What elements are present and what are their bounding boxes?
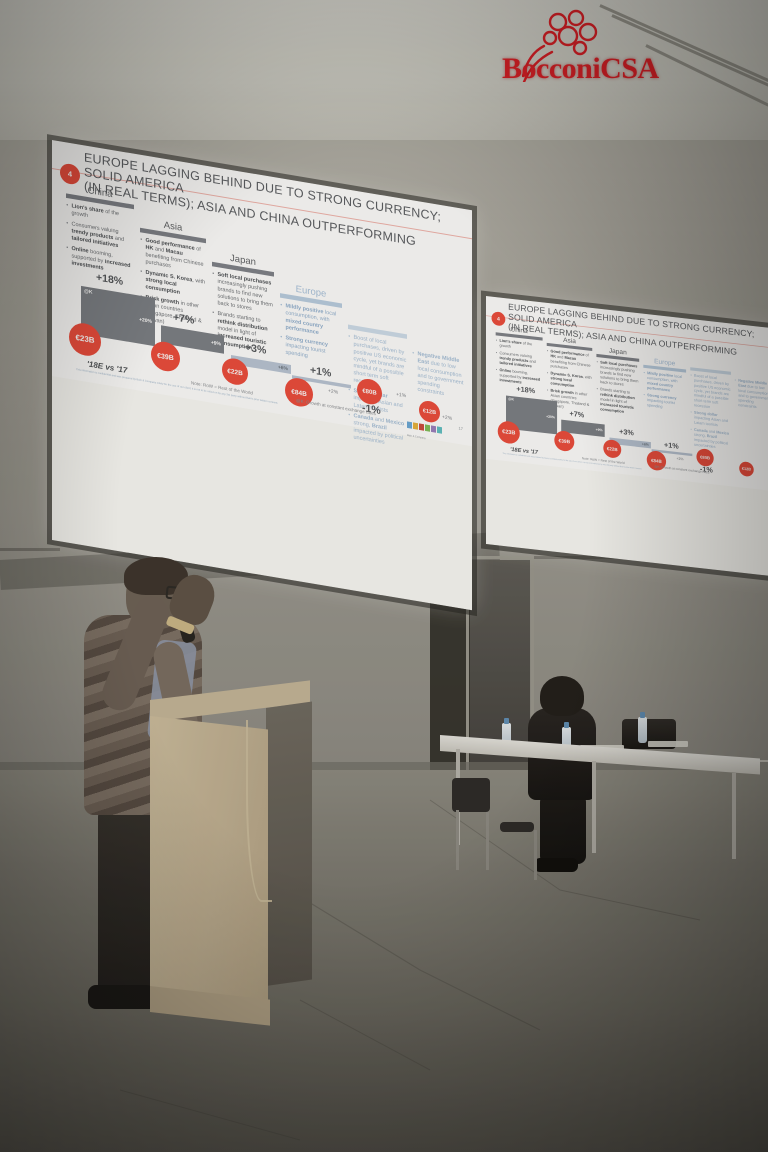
logo-square-1	[407, 421, 412, 428]
slide-content-secondary: 4 EUROPE LAGGING BEHIND DUE TO STRONG CU…	[486, 296, 768, 491]
logo-square-2	[413, 422, 418, 429]
bullet-item: Mildly positive local consumption, with …	[643, 370, 686, 395]
paper-sheet-3	[648, 741, 688, 747]
bullet-item: Good performance of HK and Macau benefit…	[547, 348, 593, 373]
bubble-row: €12B	[739, 461, 753, 477]
growth-label-asia: +7%	[173, 311, 194, 327]
growth-label-japan: +3%	[619, 428, 634, 438]
logo-square-3	[419, 423, 424, 430]
logo-square-6	[437, 426, 442, 433]
bullet-item: Negative Middle East due to low local co…	[734, 378, 768, 412]
constant-fx-japan: +6%	[278, 365, 288, 372]
column-china: China Lion's share of the growthConsumer…	[66, 181, 134, 280]
bullet-list-china: Lion's share of the growthConsumers valu…	[66, 201, 134, 277]
constant-fx-key: @K	[508, 397, 514, 401]
constant-fx-china: +20%	[546, 415, 555, 420]
column-row: Negative Middle East due to low local co…	[734, 378, 768, 414]
constant-fx-asia: +9%	[211, 340, 221, 347]
projection-screen-secondary: 4 EUROPE LAGGING BEHIND DUE TO STRONG CU…	[486, 296, 768, 577]
constant-fx-japan: +6%	[642, 442, 649, 447]
bullet-item: Brands starting to rethink distribution …	[596, 387, 639, 416]
bullet-item: Strong currency impacting tourist spendi…	[643, 392, 686, 412]
growth-label-europe: +1%	[310, 364, 331, 380]
chair-left	[452, 778, 490, 812]
growth-label-asia: +7%	[569, 410, 584, 420]
column-japan: Japan Soft local purchases increasingly …	[596, 346, 639, 419]
brand-name: Bain & Company	[407, 434, 426, 440]
constant-fx-key: @K	[84, 288, 92, 295]
column-europe: Europe Mildly positive local consumption…	[643, 356, 686, 414]
projection-screen-primary: 4 EUROPE LAGGING BEHIND DUE TO STRONG CU…	[52, 140, 472, 610]
constant-fx-row: +2%	[442, 414, 452, 421]
logo-square-5	[431, 425, 436, 432]
wall-seam-left	[0, 548, 60, 551]
bullet-item: Soft local purchases increasingly pushin…	[212, 270, 274, 316]
table-top	[440, 735, 760, 774]
photo-scene: 4 EUROPE LAGGING BEHIND DUE TO STRONG CU…	[0, 0, 768, 1152]
bubble-americas: €80B	[357, 377, 382, 406]
podium-side-panel	[266, 702, 312, 986]
bullet-item: Dynamic S. Korea, with strong local cons…	[547, 370, 593, 390]
panelist-shoe	[534, 858, 578, 872]
logo-square-4	[425, 424, 430, 431]
growth-label-europe: +1%	[664, 441, 679, 451]
panelist-hair	[540, 676, 584, 716]
bubble-row: €12B	[419, 399, 440, 424]
constant-fx-asia: +9%	[596, 428, 603, 433]
bullet-list-china: Lion's share of the growthConsumers valu…	[496, 338, 543, 388]
bullet-list-europe: Mildly positive local consumption, with …	[643, 370, 686, 412]
table-leg-3	[732, 773, 736, 859]
lectern-podium	[150, 700, 310, 1010]
table-leg-2	[592, 761, 596, 853]
constant-fx-europe: +2%	[676, 457, 683, 462]
chair-left-leg-1	[456, 810, 459, 870]
bullet-item: Boost of local purchases, driven by posi…	[690, 373, 731, 412]
chair-left-leg-2	[486, 812, 489, 870]
column-china: China Lion's share of the growthConsumer…	[496, 324, 543, 390]
watermark-text: BocconiCSA	[502, 52, 768, 86]
constant-fx-china: +20%	[139, 317, 152, 325]
chair-right	[500, 822, 534, 832]
water-bottle-3	[638, 717, 647, 743]
growth-label-japan: +3%	[245, 341, 266, 357]
constant-fx-europe: +2%	[328, 388, 338, 395]
bullet-item: Soft local purchases increasingly pushin…	[596, 359, 639, 388]
bullet-list-japan: Soft local purchases increasingly pushin…	[596, 359, 639, 416]
constant-fx-americas: +1%	[396, 392, 406, 399]
chair-right-leg-1	[534, 830, 537, 880]
bullet-list-row: Negative Middle East due to low local co…	[734, 378, 768, 412]
